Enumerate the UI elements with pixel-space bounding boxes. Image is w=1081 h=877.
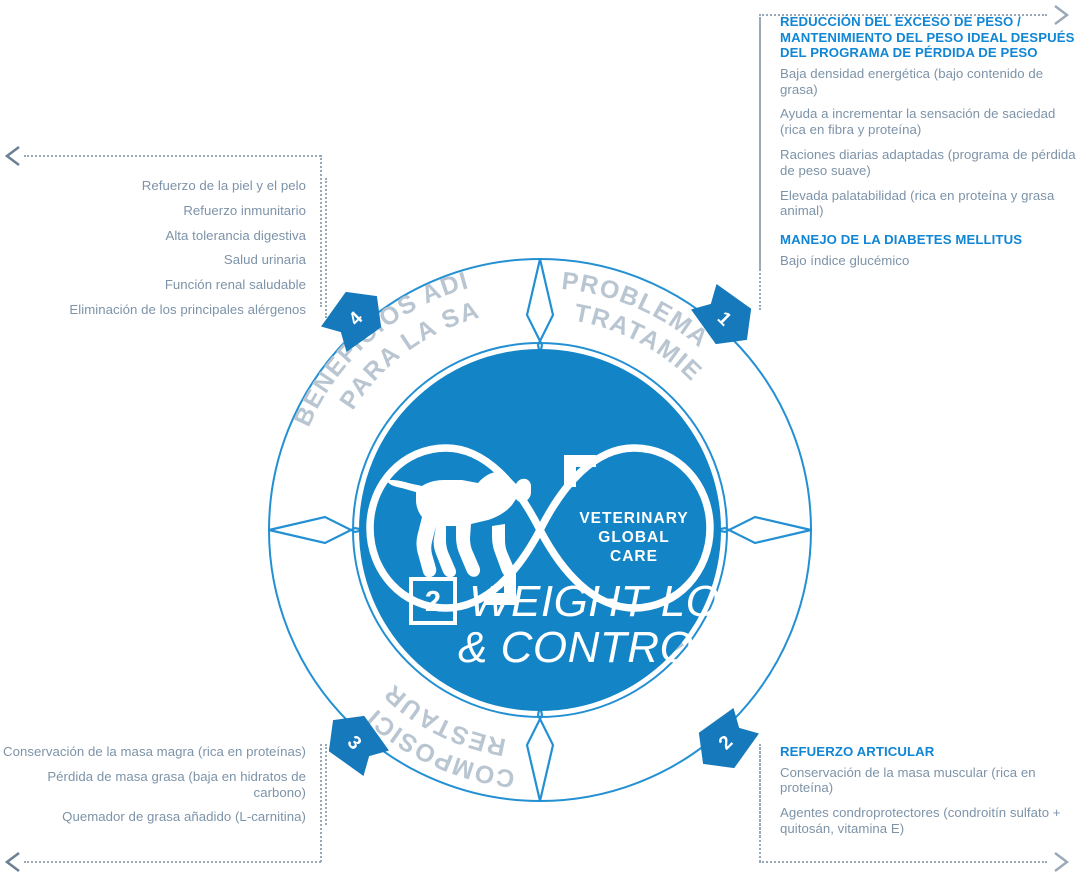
connector-line-top-left [24, 155, 321, 157]
connector-line-bottom-left [24, 861, 321, 863]
panel-item: Baja densidad energética (bajo contenido… [780, 66, 1080, 98]
center-title-line1: WEIGHT LOSS [469, 577, 780, 626]
center-title-line2: & CONTROL [458, 623, 719, 672]
chevron-right-icon [1050, 847, 1072, 877]
panel-top-right: REDUCCIÓN DEL EXCESO DE PESO / MANTENIMI… [759, 14, 1080, 269]
panel-item: Elevada palatabilidad (rica en proteína … [780, 188, 1080, 220]
logo-text-line2: GLOBAL [598, 529, 669, 546]
logo-text-line1: VETERINARY [579, 510, 688, 527]
panel-item: Raciones diarias adaptadas (programa de … [780, 147, 1080, 179]
panel-item: Refuerzo de la piel y el pelo [0, 178, 306, 194]
logo-text-line3: CARE [610, 548, 658, 565]
panel-heading: REDUCCIÓN DEL EXCESO DE PESO / MANTENIMI… [780, 14, 1080, 61]
chevron-left-icon [2, 847, 24, 877]
center-badge-2-number: 2 [425, 586, 441, 618]
connector-line-bottom-right [759, 861, 1047, 863]
panel-item: Refuerzo inmunitario [0, 203, 306, 219]
chevron-left-icon [2, 141, 24, 171]
infographic-canvas: REDUCCIÓN DEL EXCESO DE PESO / MANTENIMI… [0, 0, 1081, 872]
circular-diagram: TRATAMIENTO DEL PROBLEMA PRIMARIO APOYO … [250, 240, 830, 820]
panel-item: Ayuda a incrementar la sensación de saci… [780, 106, 1080, 138]
